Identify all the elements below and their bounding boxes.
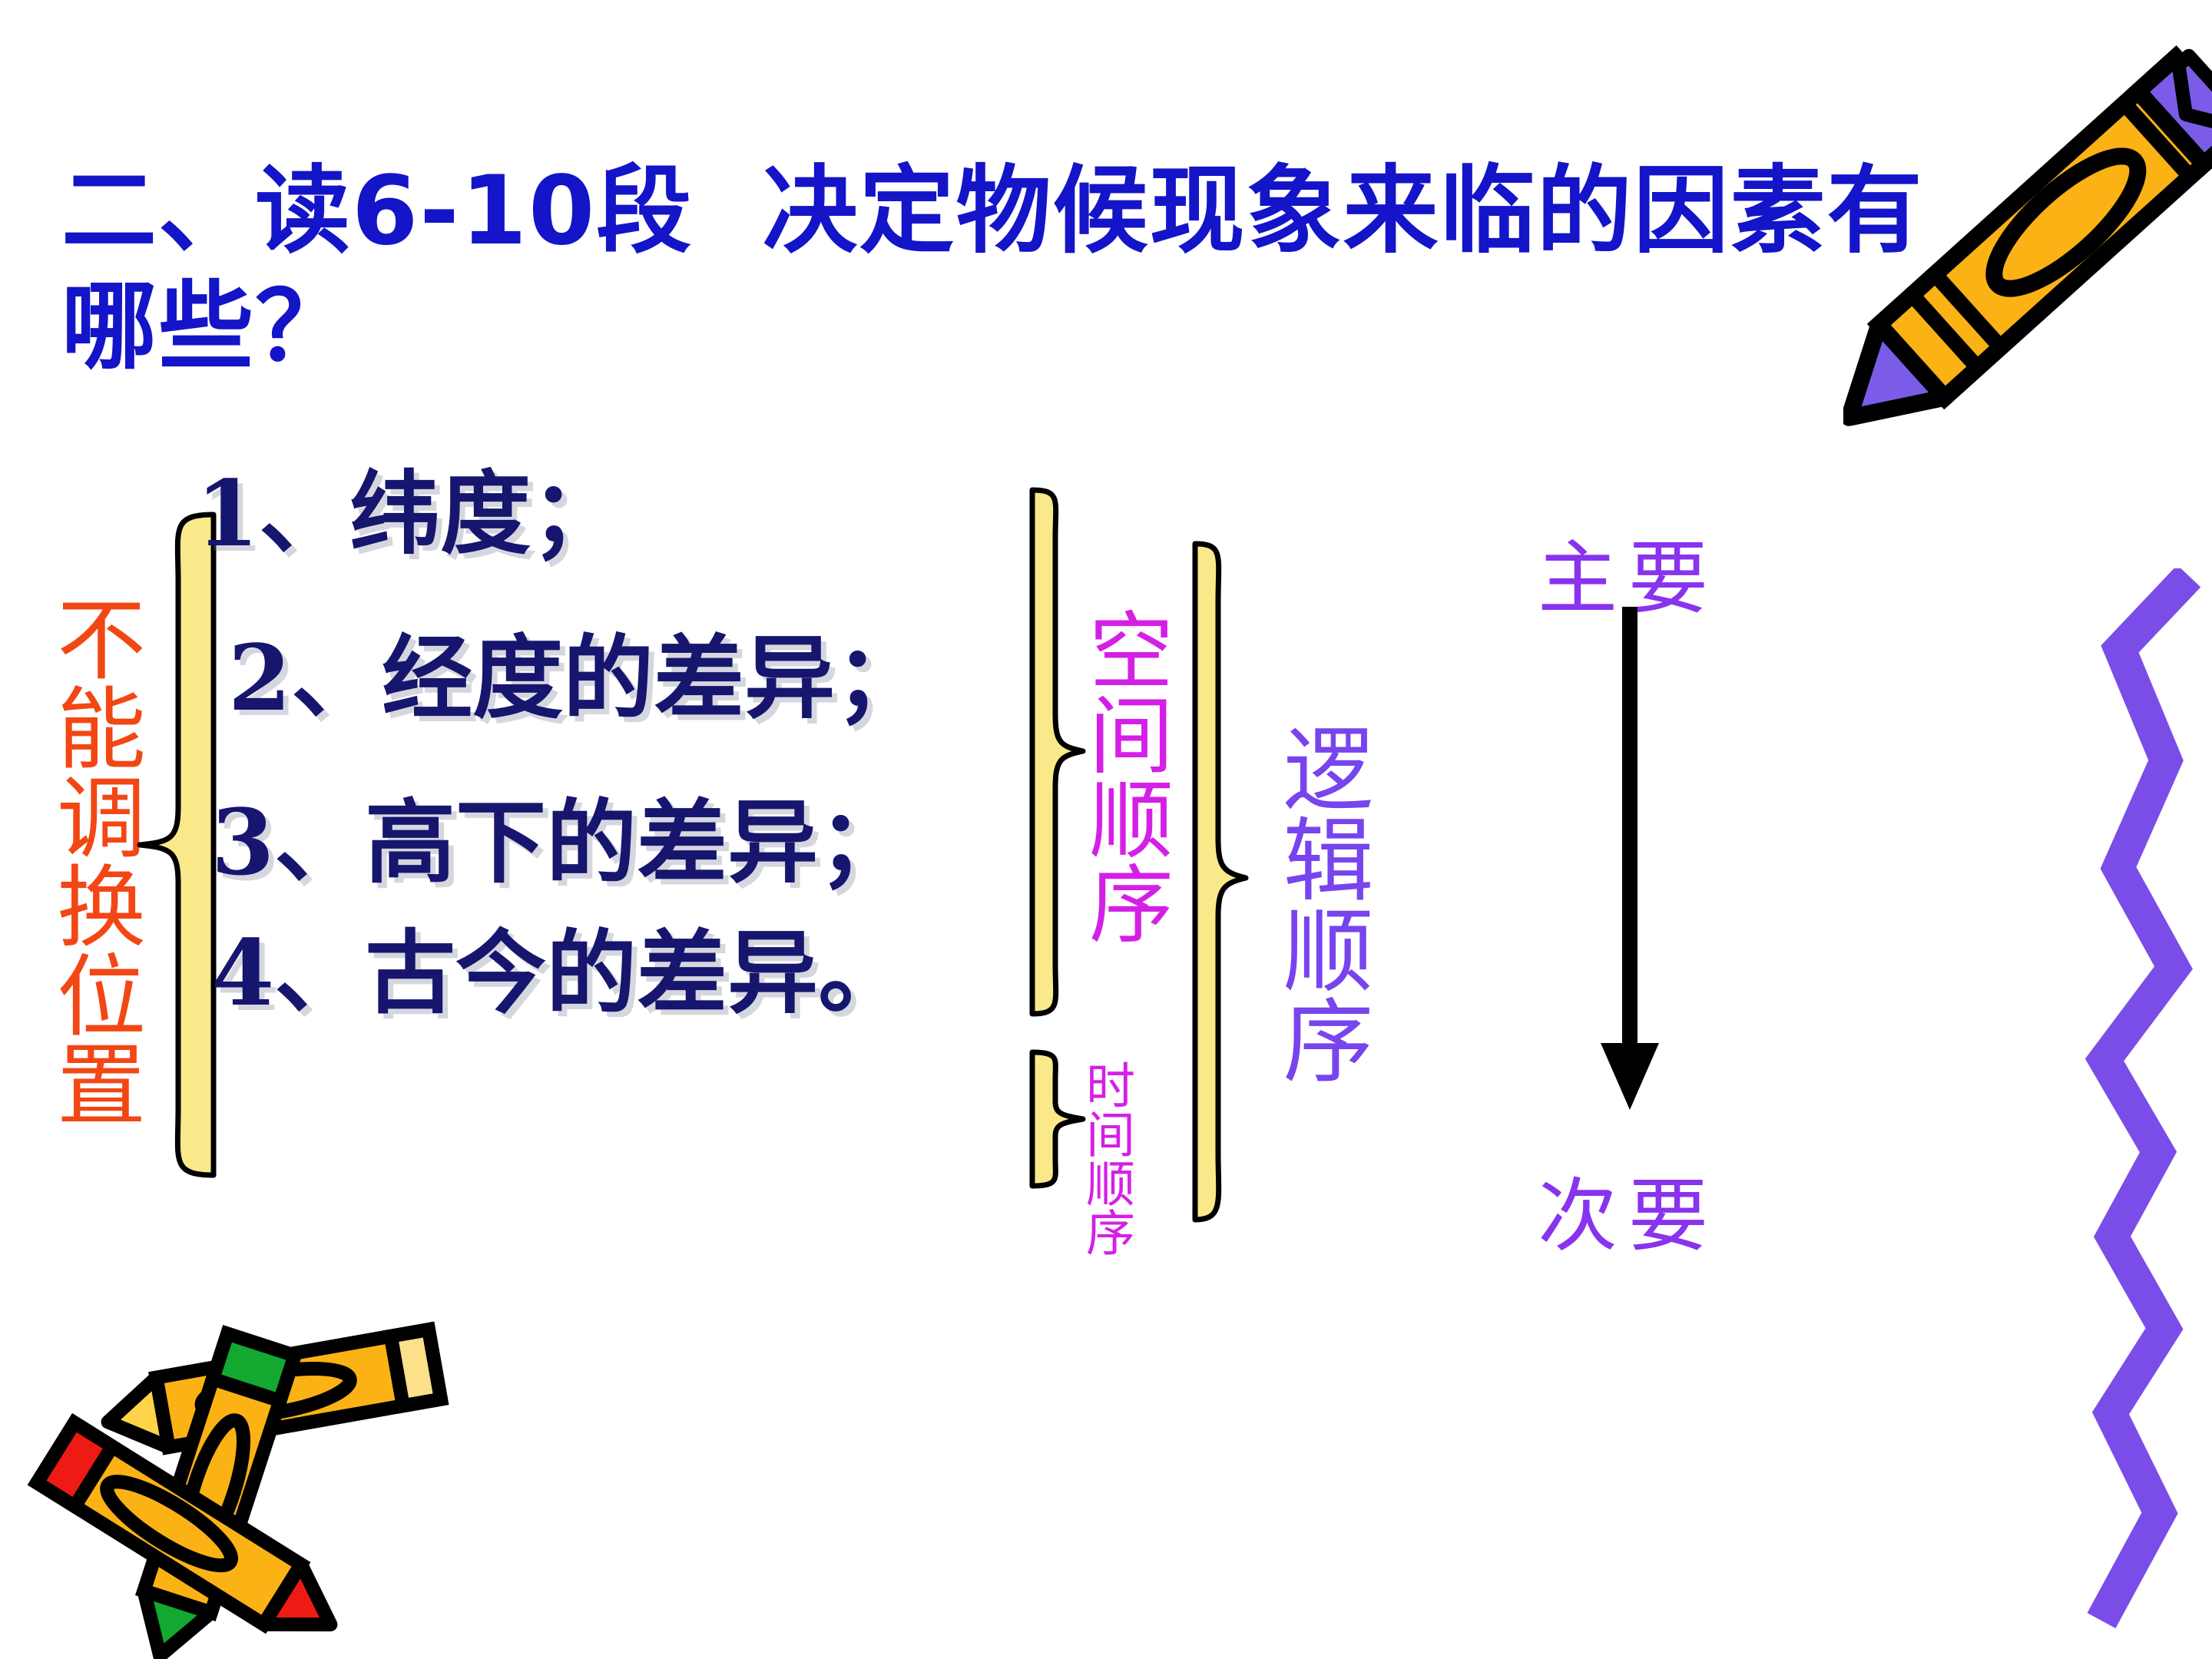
- logical-order-label: 逻辑顺序: [1275, 722, 1366, 1084]
- spatial-order-label: 空间顺序: [1081, 607, 1166, 945]
- page-title: 二、读6-10段 决定物候现象来临的因素有哪些？: [61, 154, 1943, 386]
- crayon-clipart: [1843, 0, 2212, 499]
- list-item: 2、经度的差异；: [228, 633, 1025, 724]
- secondary-importance-label: 次要: [1538, 1151, 1719, 1267]
- temporal-order-label: 时间顺序: [1081, 1060, 1131, 1257]
- list-item: 4、古今的差异。: [211, 928, 1025, 1018]
- purple-squiggle: [2028, 568, 2212, 1659]
- list-item: 1、纬度；: [196, 469, 1025, 559]
- brace-logical: [1184, 538, 1253, 1229]
- factor-list: 1、纬度； 2、经度的差异； 3、高下的差异； 4、古今的差异。: [196, 469, 1025, 1018]
- crayons-clipart: [15, 1306, 492, 1659]
- slide-canvas: 二、读6-10段 决定物候现象来临的因素有哪些？ 不能调换位置 1、纬度； 2、…: [0, 0, 2212, 1659]
- left-vertical-annotation: 不能调换位置: [23, 568, 138, 1152]
- down-arrow-icon: [1584, 607, 1676, 1114]
- list-item: 3、高下的差异；: [211, 797, 1025, 888]
